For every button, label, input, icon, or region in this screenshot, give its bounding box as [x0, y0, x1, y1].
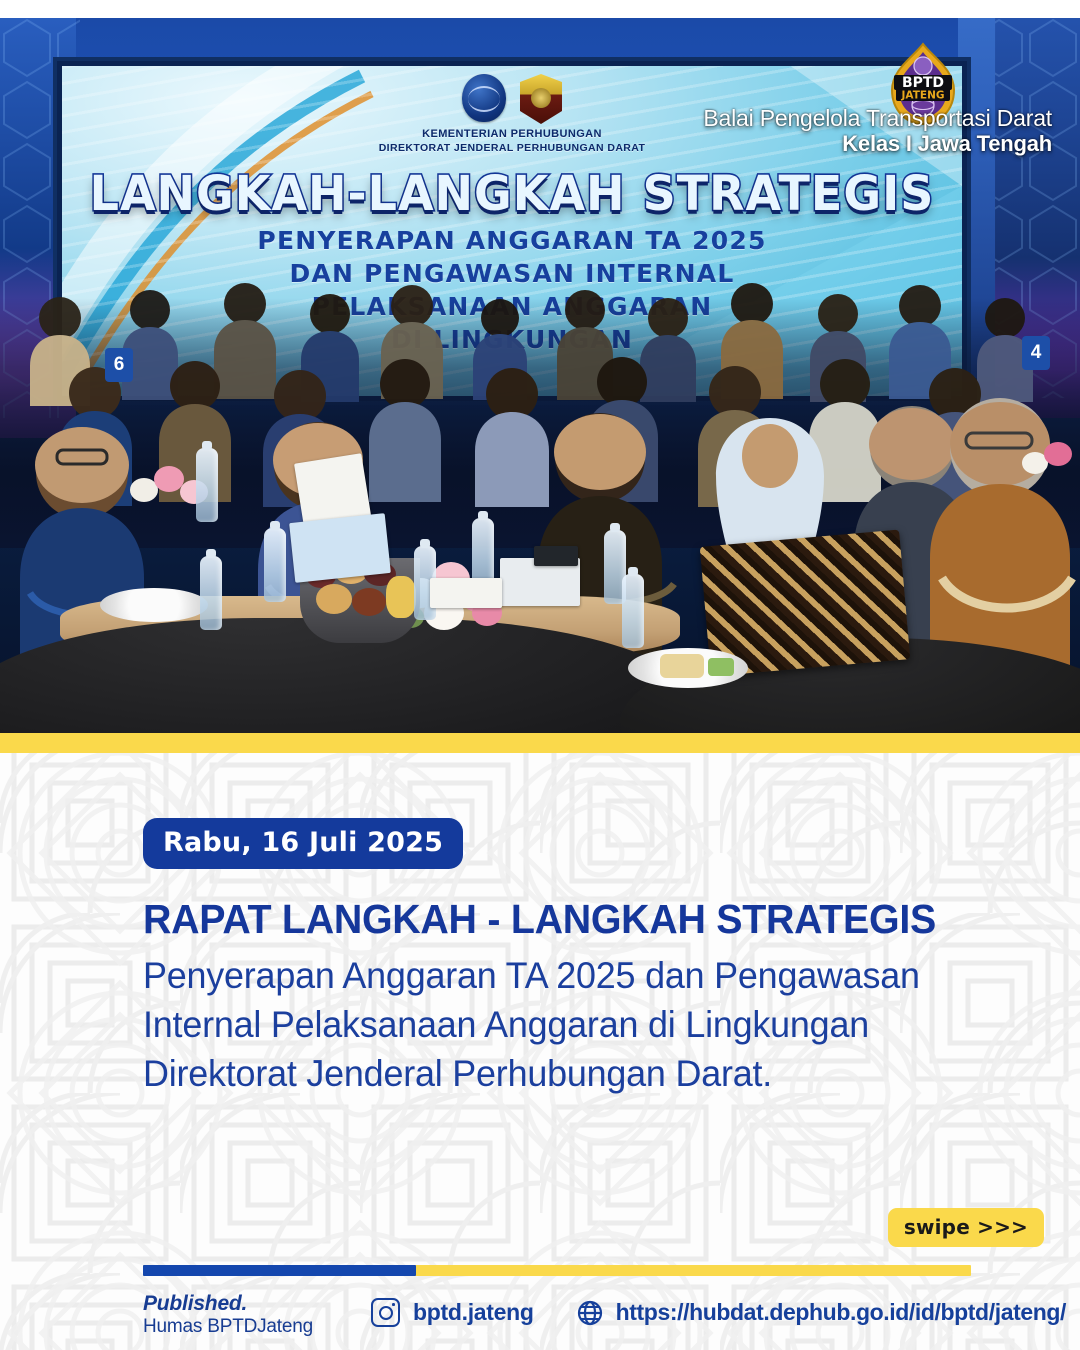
social-links: bptd.jateng https://hubdat.dephub.go.id/… [371, 1298, 1066, 1327]
flower-centerpiece-right [1020, 438, 1080, 498]
brand-line-1: Balai Pengelola Transportasi Darat [703, 106, 1052, 132]
plate-left [100, 588, 208, 622]
table-number-sign-right: 4 [1022, 336, 1050, 370]
date-badge: Rabu, 16 Juli 2025 [143, 818, 463, 869]
published-block: Published. Humas BPTDJateng [143, 1291, 313, 1339]
water-bottle-2 [264, 528, 286, 602]
instagram-icon[interactable] [371, 1298, 400, 1327]
brand-text: Balai Pengelola Transportasi Darat Kelas… [703, 106, 1052, 156]
snack-on-plate [660, 654, 704, 678]
poster-canvas: KEMENTERIAN PERHUBUNGAN DIREKTORAT JENDE… [0, 0, 1080, 1350]
snack-green [708, 658, 734, 676]
yellow-divider [0, 733, 1080, 753]
phone-on-table [534, 546, 578, 566]
website-url[interactable]: https://hubdat.dephub.go.id/id/bptd/jate… [616, 1299, 1066, 1326]
page-subtitle: Penyerapan Anggaran TA 2025 dan Pengawas… [143, 951, 1016, 1099]
content-section: Rabu, 16 Juli 2025 RAPAT LANGKAH - LANGK… [0, 753, 1080, 1350]
progress-bar-track [143, 1265, 971, 1276]
progress-bar-fill [143, 1265, 416, 1276]
svg-text:JATENG: JATENG [901, 90, 945, 102]
page-title: RAPAT LANGKAH - LANGKAH STRATEGIS [143, 896, 988, 943]
brand-line-2: Kelas I Jawa Tengah [703, 132, 1052, 157]
published-label: Published. [143, 1291, 313, 1316]
water-bottle-7 [196, 448, 218, 522]
document-paper-3 [430, 578, 502, 608]
hero-photo: KEMENTERIAN PERHUBUNGAN DIREKTORAT JENDE… [0, 0, 1080, 733]
instagram-handle[interactable]: bptd.jateng [413, 1299, 534, 1326]
table-number-sign-left: 6 [105, 348, 133, 382]
water-bottle-5 [622, 574, 644, 648]
document-paper-2 [289, 513, 391, 583]
globe-icon[interactable] [577, 1300, 603, 1326]
water-bottle-1 [200, 556, 222, 630]
published-by: Humas BPTDJateng [143, 1316, 313, 1339]
swipe-button[interactable]: swipe >>> [888, 1208, 1044, 1247]
